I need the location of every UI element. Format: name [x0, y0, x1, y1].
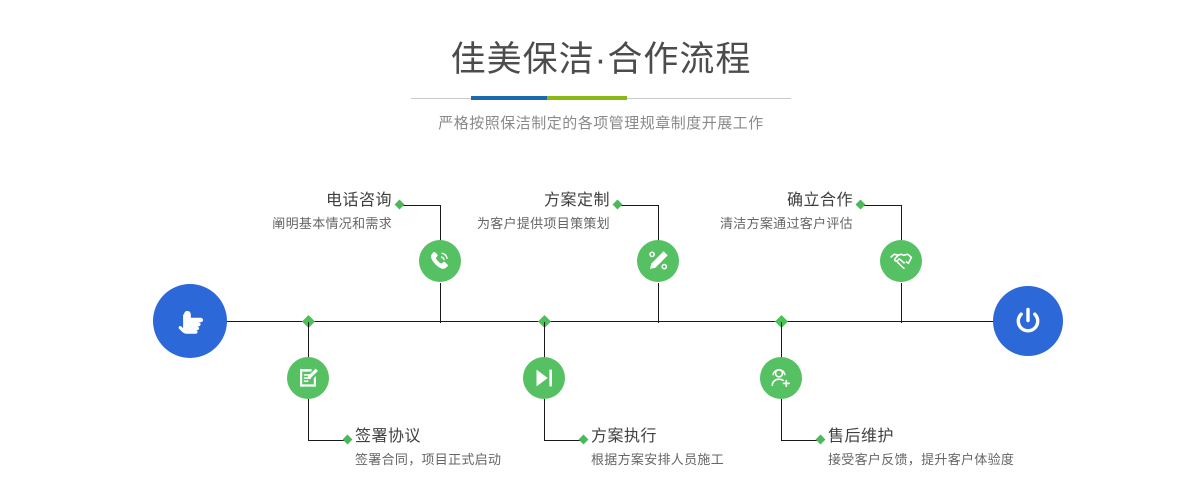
connector-hline-step-6 [781, 440, 820, 441]
connector-vline-step-2 [308, 399, 309, 440]
connector-drop-step-3 [658, 283, 659, 323]
connector-drop-step-1 [440, 283, 441, 323]
step-label-2: 签署协议 签署合同，项目正式启动 [355, 426, 615, 470]
divider-segment-blue [471, 96, 547, 100]
step-label-4: 方案执行 根据方案安排人员施工 [591, 426, 851, 470]
step-title-3: 方案定制 [370, 190, 610, 212]
title-divider [411, 94, 791, 104]
connector-hline-step-5 [861, 205, 902, 206]
page-title: 佳美保洁·合作流程 [0, 0, 1202, 82]
connector-vline-step-6 [781, 399, 782, 440]
step-title-5: 确立合作 [613, 190, 853, 212]
timeline-axis [205, 321, 1005, 322]
customer-support-icon [768, 365, 794, 391]
step-subtitle-1: 阐明基本情况和需求 [152, 212, 392, 234]
connector-vline-step-4 [544, 399, 545, 440]
step-title-1: 电话咨询 [152, 190, 392, 212]
step-icon-bubble-3 [637, 240, 679, 282]
step-icon-bubble-6 [760, 357, 802, 399]
step-subtitle-3: 为客户提供项目策策划 [370, 212, 610, 234]
label-marker-step-5 [856, 200, 866, 210]
page-subtitle: 严格按照保洁制定的各项管理规章制度开展工作 [0, 104, 1202, 135]
document-edit-icon [295, 365, 321, 391]
connector-hline-step-4 [544, 440, 583, 441]
power-icon [1008, 301, 1048, 341]
step-subtitle-4: 根据方案安排人员施工 [591, 448, 851, 470]
connector-drop-step-2 [308, 322, 309, 358]
step-icon-bubble-1 [419, 240, 461, 282]
step-label-5: 确立合作 清洁方案通过客户评估 [613, 190, 853, 234]
connector-drop-step-5 [901, 283, 902, 323]
step-label-6: 售后维护 接受客户反馈，提升客户体验度 [828, 426, 1108, 470]
cooperation-process-infographic: 佳美保洁·合作流程 严格按照保洁制定的各项管理规章制度开展工作 电话 [0, 0, 1202, 502]
step-icon-bubble-4 [523, 357, 565, 399]
step-icon-bubble-2 [287, 357, 329, 399]
step-icon-bubble-5 [880, 240, 922, 282]
connector-drop-step-6 [781, 322, 782, 358]
step-label-3: 方案定制 为客户提供项目策策划 [370, 190, 610, 234]
label-marker-step-2 [343, 435, 353, 445]
handshake-icon [888, 248, 914, 274]
step-subtitle-6: 接受客户反馈，提升客户体验度 [828, 448, 1108, 470]
step-label-1: 电话咨询 阐明基本情况和需求 [152, 190, 392, 234]
divider-segment-green [547, 96, 627, 100]
step-title-2: 签署协议 [355, 426, 615, 448]
pencil-design-icon [645, 248, 671, 274]
step-title-4: 方案执行 [591, 426, 851, 448]
pointing-hand-icon [170, 301, 210, 341]
header: 佳美保洁·合作流程 严格按照保洁制定的各项管理规章制度开展工作 [0, 0, 1202, 135]
step-subtitle-2: 签署合同，项目正式启动 [355, 448, 615, 470]
connector-drop-step-4 [544, 322, 545, 358]
timeline-end-node [993, 286, 1063, 356]
step-subtitle-5: 清洁方案通过客户评估 [613, 212, 853, 234]
timeline-start-node [153, 284, 227, 358]
phone-call-icon [427, 248, 453, 274]
connector-hline-step-2 [308, 440, 347, 441]
step-title-6: 售后维护 [828, 426, 1108, 448]
play-skip-icon [531, 365, 557, 391]
